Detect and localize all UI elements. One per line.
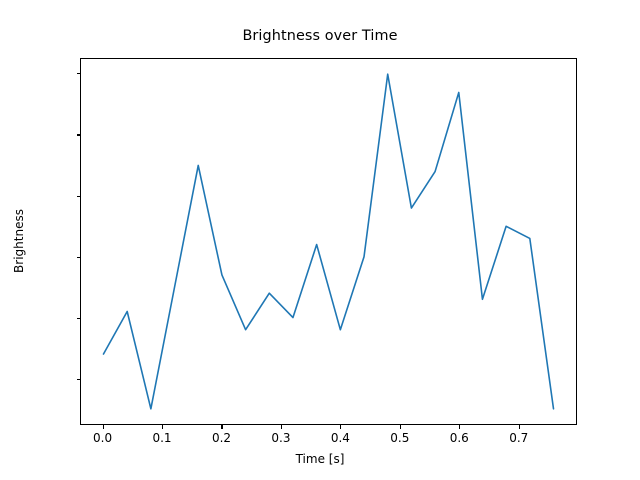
plot-area <box>80 58 577 425</box>
matplotlib-figure: Brightness over Time Brightness Time [s]… <box>0 0 640 480</box>
y-axis-label: Brightness <box>12 209 26 273</box>
x-tick-label: 0.5 <box>390 431 409 445</box>
x-tick-label: 0.6 <box>450 431 469 445</box>
x-tick-label: 0.1 <box>152 431 171 445</box>
x-tick-mark <box>459 425 460 429</box>
chart-title: Brightness over Time <box>0 28 640 44</box>
x-tick-mark <box>281 425 282 429</box>
brightness-line <box>103 74 553 409</box>
x-tick-mark <box>519 425 520 429</box>
x-tick-mark <box>340 425 341 429</box>
x-tick-mark <box>221 425 222 429</box>
x-tick-label: 0.3 <box>271 431 290 445</box>
x-axis-label: Time [s] <box>0 452 640 466</box>
x-tick-mark <box>400 425 401 429</box>
data-line-series <box>81 59 576 424</box>
x-tick-label: 0.2 <box>212 431 231 445</box>
x-tick-mark <box>162 425 163 429</box>
x-tick-mark <box>103 425 104 429</box>
x-tick-label: 0.0 <box>93 431 112 445</box>
x-tick-label: 0.7 <box>509 431 528 445</box>
x-tick-label: 0.4 <box>331 431 350 445</box>
